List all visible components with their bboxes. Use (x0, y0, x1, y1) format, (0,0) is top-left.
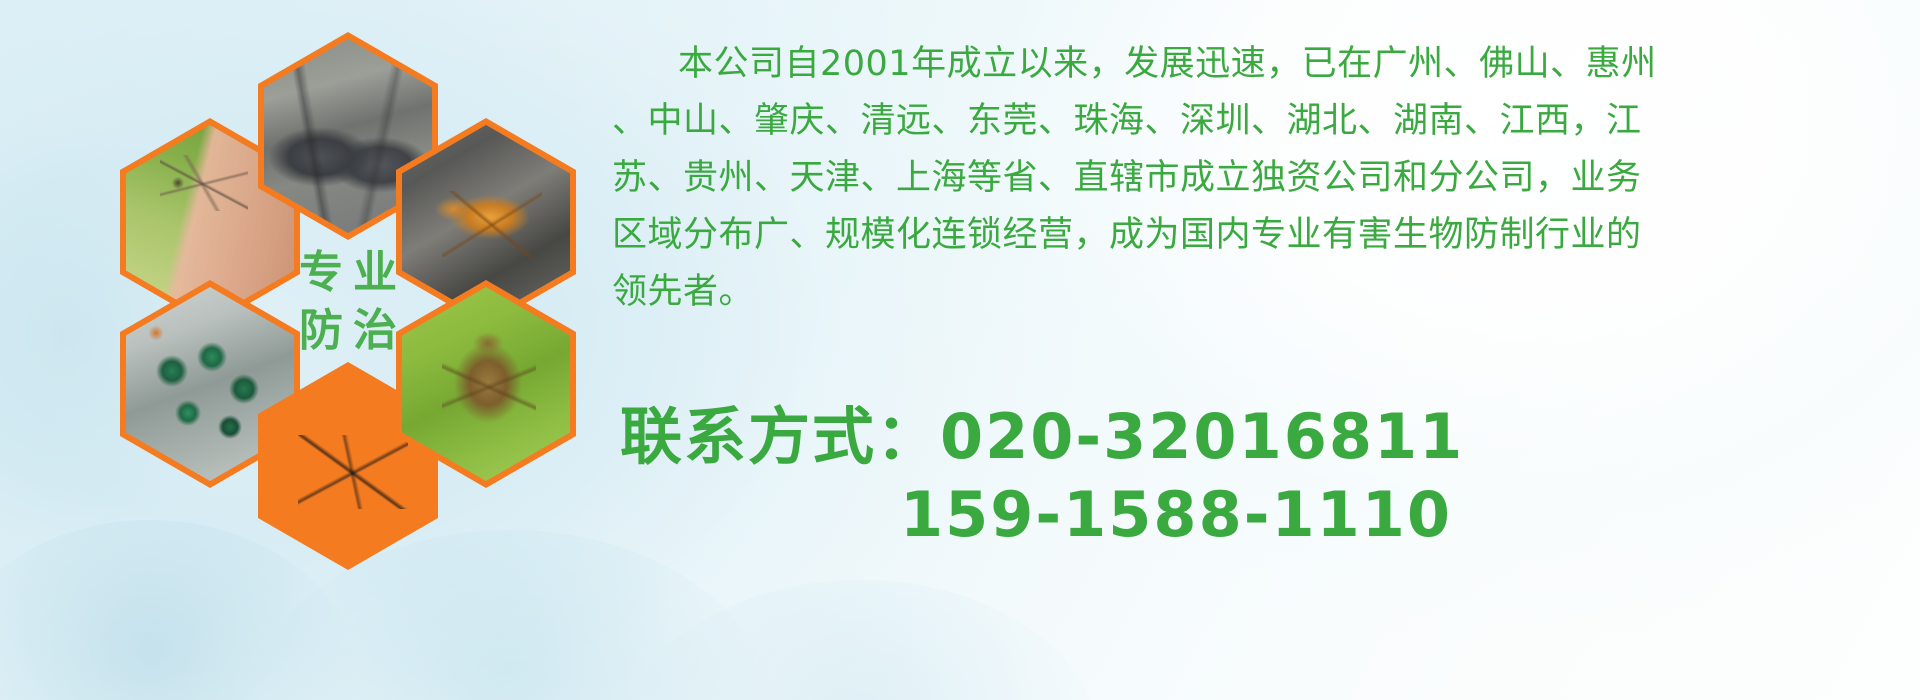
hex-label-line2: 防治 (289, 309, 407, 353)
contact-phone-primary[interactable]: 联系方式：020-32016811 (620, 398, 1910, 476)
intro-line-5: 领先者。 (612, 264, 1902, 321)
contact-block: 联系方式：020-32016811 159-1588-1110 (620, 398, 1910, 554)
background-blob (620, 580, 1100, 700)
company-intro-block: 本公司自2001年成立以来，发展迅速，已在广州、佛山、惠州 、中山、肇庆、清远、… (612, 36, 1902, 321)
company-intro-paragraph: 本公司自2001年成立以来，发展迅速，已在广州、佛山、惠州 、中山、肇庆、清远、… (612, 36, 1902, 321)
hex-center-label: 专业 防治 (258, 198, 438, 406)
hex-label-line1: 专业 (289, 251, 407, 295)
hexagon-photo-cluster: 专业 防治 (90, 10, 610, 570)
contact-phone-secondary[interactable]: 159-1588-1110 (620, 476, 1910, 554)
intro-line-1: 本公司自2001年成立以来，发展迅速，已在广州、佛山、惠州 (612, 36, 1902, 93)
intro-line-3: 苏、贵州、天津、上海等省、直辖市成立独资公司和分公司，业务 (612, 150, 1902, 207)
pest-control-banner: 专业 防治 本公司自2001年成立以来，发展迅速，已在广州、佛山、惠州 、中山、… (0, 0, 1920, 700)
intro-line-4: 区域分布广、规模化连锁经营，成为国内专业有害生物防制行业的 (612, 207, 1902, 264)
intro-line-2: 、中山、肇庆、清远、东莞、珠海、深圳、湖北、湖南、江西，江 (612, 93, 1902, 150)
